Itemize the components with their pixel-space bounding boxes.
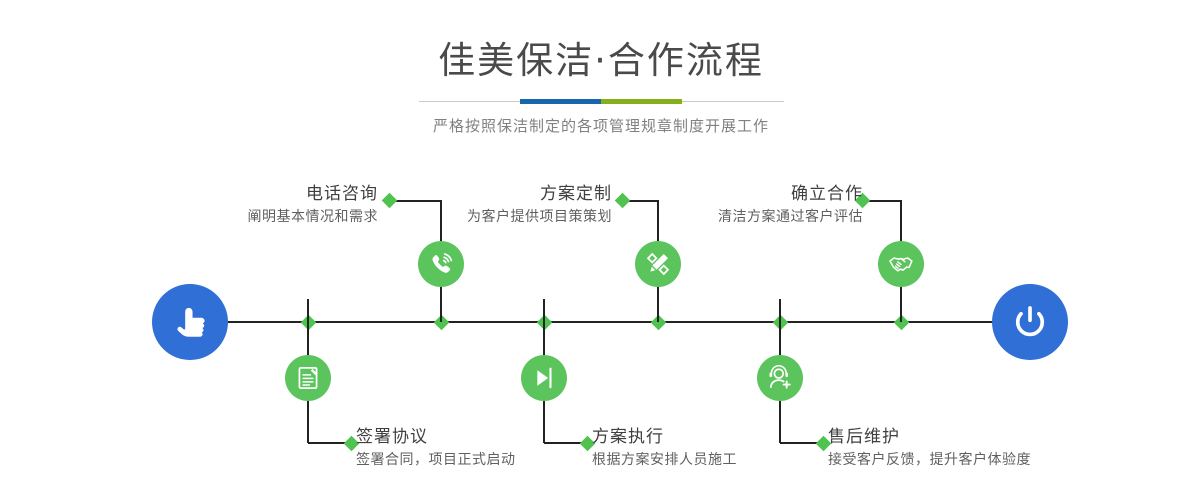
step-icon-circle[interactable] <box>757 355 803 401</box>
connector-stem <box>779 401 781 443</box>
connector-stem <box>657 287 659 322</box>
connector-stem <box>307 299 309 355</box>
step-icon-circle[interactable] <box>521 355 567 401</box>
step-icon-circle[interactable] <box>878 241 924 287</box>
timeline-end-cap[interactable] <box>992 284 1068 360</box>
step-label-bottom-3: 售后维护 接受客户反馈，提升客户体验度 <box>828 426 1158 471</box>
play-execute-icon <box>530 364 558 392</box>
step-desc: 清洁方案通过客户评估 <box>553 207 863 228</box>
connector-elbow <box>544 442 584 444</box>
connector-stem <box>900 287 902 322</box>
step-label-top-3: 确立合作 清洁方案通过客户评估 <box>553 183 863 228</box>
timeline: 电话咨询 阐明基本情况和需求 方案定制 <box>0 0 1202 502</box>
step-title: 确立合作 <box>553 183 863 205</box>
step-desc: 接受客户反馈，提升客户体验度 <box>828 450 1158 471</box>
connector-elbow <box>308 442 348 444</box>
step-icon-circle[interactable] <box>635 241 681 287</box>
connector-stem <box>543 299 545 355</box>
power-icon <box>1009 301 1051 343</box>
step-title: 售后维护 <box>828 426 1158 448</box>
pointing-hand-icon <box>169 301 211 343</box>
connector-stem <box>440 287 442 322</box>
connector-stem <box>543 401 545 443</box>
pencil-ruler-icon <box>644 250 672 278</box>
step-icon-circle[interactable] <box>418 241 464 287</box>
customer-support-icon <box>766 364 794 392</box>
connector-elbow <box>780 442 820 444</box>
document-edit-icon <box>294 364 322 392</box>
phone-call-icon <box>427 250 455 278</box>
connector-stem <box>779 299 781 355</box>
connector-stem <box>307 401 309 443</box>
handshake-icon <box>887 250 915 278</box>
step-icon-circle[interactable] <box>285 355 331 401</box>
timeline-start-cap[interactable] <box>152 284 228 360</box>
connector-stem <box>900 200 902 241</box>
process-flow-infographic: 佳美保洁·合作流程 严格按照保洁制定的各项管理规章制度开展工作 <box>0 0 1202 502</box>
